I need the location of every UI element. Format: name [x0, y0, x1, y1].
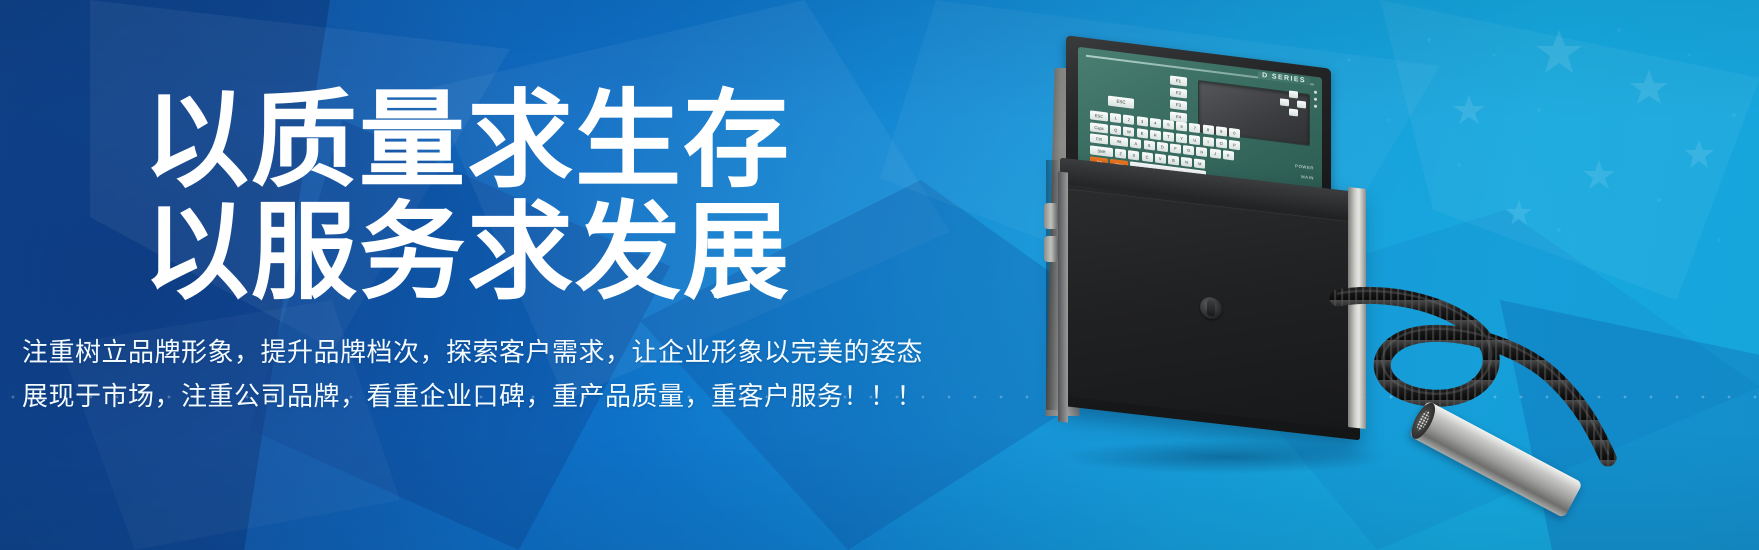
key[interactable]: M — [1194, 158, 1205, 168]
key[interactable]: B — [1168, 155, 1179, 165]
key[interactable]: 7 — [1189, 123, 1200, 133]
key[interactable]: Q — [1110, 124, 1121, 134]
function-key-column: F1 F2 F3 F4 — [1170, 75, 1187, 125]
key[interactable]: J — [1210, 149, 1221, 159]
indicator-dot — [1314, 98, 1317, 101]
function-key-f3[interactable]: F3 — [1170, 99, 1187, 110]
indicator-dots — [1314, 91, 1317, 112]
nozzle-holes-icon — [1415, 409, 1432, 432]
inkjet-printer-illustration: D SERIES F1 F2 F3 F4 ESC — [1000, 40, 1620, 510]
subtext-line-2: 展现于市场，注重公司品牌，看重企业口碑，重产品质量，重客户服务！！！ — [22, 376, 923, 413]
key[interactable]: A — [1130, 139, 1141, 149]
key[interactable]: 5 — [1163, 120, 1174, 130]
key[interactable]: F — [1170, 144, 1181, 154]
key[interactable]: X — [1128, 150, 1139, 160]
brand-label: D SERIES — [1258, 72, 1310, 86]
key[interactable]: P — [1229, 139, 1240, 149]
key[interactable]: S — [1144, 140, 1155, 150]
key[interactable]: 4 — [1150, 118, 1161, 128]
key[interactable]: 6 — [1176, 121, 1187, 131]
key[interactable]: U — [1189, 134, 1200, 144]
key[interactable]: V — [1155, 153, 1166, 163]
arrow-left-icon[interactable] — [1280, 98, 1289, 106]
key-esc[interactable]: ESC — [1090, 110, 1108, 121]
hinge-icon — [1044, 203, 1058, 229]
function-key-f1[interactable]: F1 — [1170, 75, 1187, 86]
key[interactable]: N — [1181, 157, 1192, 167]
key[interactable]: K — [1223, 150, 1234, 160]
key[interactable]: T — [1163, 131, 1174, 141]
key-alt[interactable]: Alt — [1110, 136, 1128, 147]
door-latch-icon[interactable] — [1200, 296, 1222, 321]
navigation-arrow-keys[interactable] — [1280, 89, 1306, 118]
key-ctrl[interactable]: Ctrl — [1090, 133, 1108, 144]
headline-line-1: 以质量求生存 — [143, 88, 791, 194]
headline-line-2: 以服务求发展 — [143, 200, 791, 306]
arrow-down-icon[interactable] — [1289, 108, 1298, 116]
key[interactable]: O — [1216, 138, 1227, 148]
arrow-up-icon[interactable] — [1289, 90, 1298, 98]
printhead-assembly — [1398, 380, 1598, 490]
key[interactable]: G — [1183, 145, 1194, 155]
key[interactable]: Z — [1115, 148, 1126, 158]
key[interactable]: C — [1142, 152, 1153, 162]
key[interactable]: 8 — [1203, 125, 1214, 135]
key[interactable]: 0 — [1229, 128, 1240, 138]
cabinet-door — [1068, 189, 1352, 430]
indicator-dot — [1314, 105, 1317, 108]
key[interactable]: I — [1203, 136, 1214, 146]
indicator-dot — [1314, 91, 1317, 94]
key[interactable]: R — [1150, 129, 1161, 139]
key-shift[interactable]: Shift — [1090, 145, 1113, 157]
arrow-right-icon[interactable] — [1297, 100, 1306, 108]
cabinet-front-trim — [1058, 171, 1068, 422]
key[interactable]: 9 — [1216, 126, 1227, 136]
key[interactable]: D — [1157, 142, 1168, 152]
banner-copy: 以质量求生存 以服务求发展 注重树立品牌形象，提升品牌档次，探索客户需求，让企业… — [0, 0, 1000, 550]
key[interactable]: W — [1123, 126, 1134, 136]
key-caps[interactable]: Caps — [1090, 122, 1108, 133]
key[interactable]: 1 — [1110, 113, 1121, 123]
key[interactable]: E — [1137, 128, 1148, 138]
key[interactable]: H — [1196, 147, 1207, 157]
printer-cabinet — [1060, 158, 1360, 441]
hinge-icon — [1044, 236, 1058, 262]
subtext-line-1: 注重树立品牌形象，提升品牌档次，探索客户需求，让企业形象以完美的姿态 — [22, 332, 923, 369]
key[interactable]: 2 — [1123, 115, 1134, 125]
key[interactable]: 3 — [1137, 116, 1148, 126]
nozzle-tip-icon — [1407, 399, 1440, 442]
function-key-f2[interactable]: F2 — [1170, 87, 1187, 98]
esc-key[interactable]: ESC — [1108, 96, 1134, 109]
promo-banner: 以质量求生存 以服务求发展 注重树立品牌形象，提升品牌档次，探索客户需求，让企业… — [0, 0, 1759, 550]
key[interactable]: Y — [1176, 133, 1187, 143]
